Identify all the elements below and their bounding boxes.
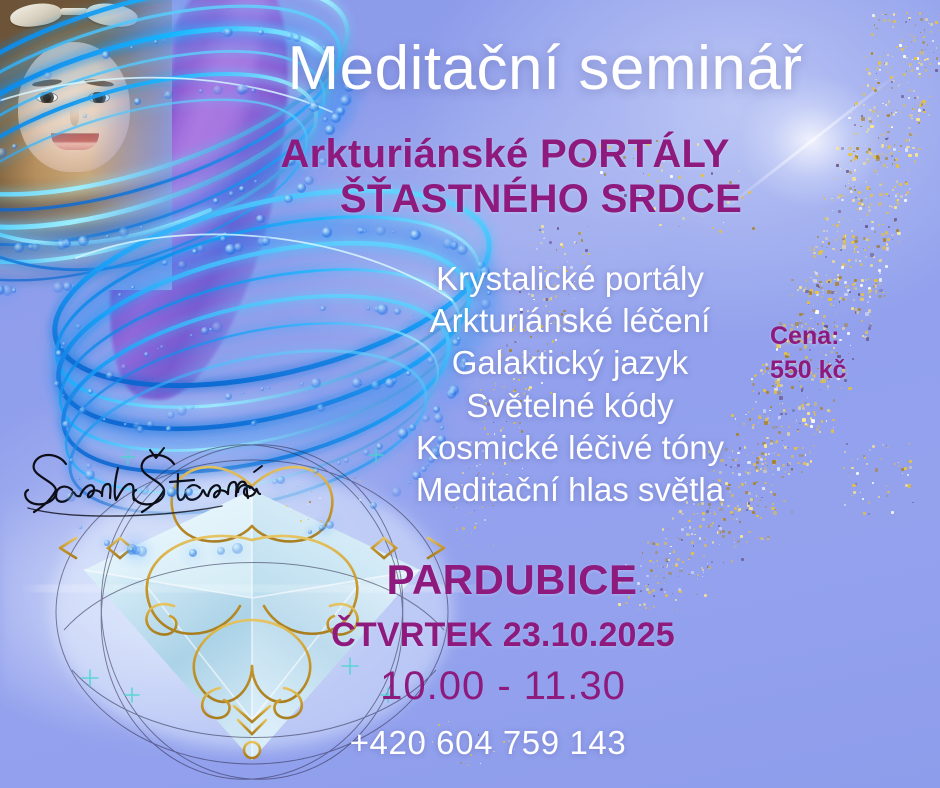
headline-line-1: Arkturiánské PORTÁLY [70, 132, 940, 177]
price-amount: 550 kč [770, 354, 910, 388]
contact-phone: +420 604 759 143 [0, 724, 940, 762]
list-item: Arkturiánské léčení [330, 300, 810, 342]
event-time: 10.00 - 11.30 [0, 664, 940, 709]
headline-line-2: ŠŤASTNÉHO SRDCE [70, 177, 940, 222]
price-label: Cena: [770, 320, 910, 354]
topics-list: Krystalické portály Arkturiánské léčení … [330, 258, 810, 511]
event-city: PARDUBICE [0, 556, 940, 604]
list-item: Meditační hlas světla [330, 469, 810, 511]
price-badge: Cena: 550 kč [770, 320, 910, 388]
list-item: Krystalické portály [330, 258, 810, 300]
list-item: Kosmické léčivé tóny [330, 427, 810, 469]
page-title: Meditační seminář [0, 38, 940, 100]
list-item: Galaktický jazyk [330, 342, 810, 384]
list-item: Světelné kódy [330, 385, 810, 427]
event-date: ČTVRTEK 23.10.2025 [0, 616, 940, 655]
poster-canvas: Meditační seminář Arkturiánské PORTÁLY Š… [0, 0, 940, 788]
headline-block: Arkturiánské PORTÁLY ŠŤASTNÉHO SRDCE [0, 132, 940, 222]
